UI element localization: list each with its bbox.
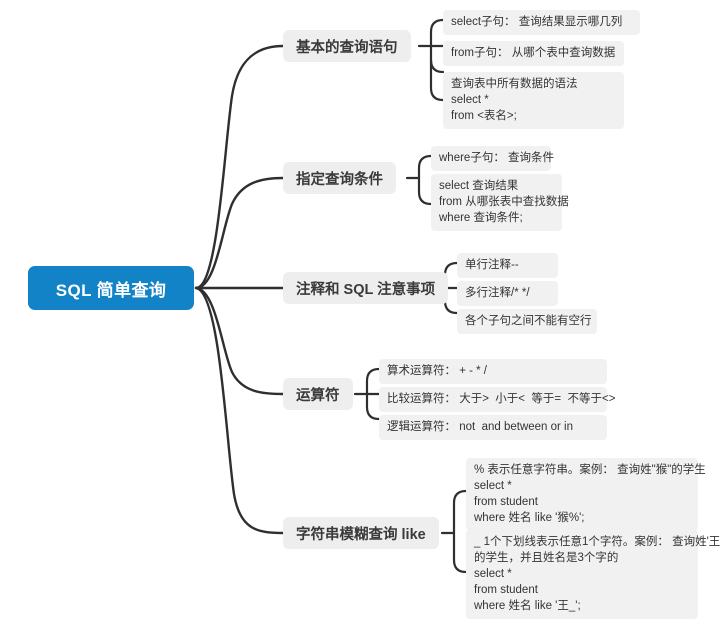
- leaf-node-4-2[interactable]: 比较运算符： 大于> 小于< 等于= 不等于<>: [379, 387, 607, 412]
- leaf-node-4-3[interactable]: 逻辑运算符： not and between or in: [379, 415, 607, 440]
- branch-node-3[interactable]: 注释和 SQL 注意事项: [283, 272, 448, 304]
- branch-node-4-label: 运算符: [296, 384, 340, 405]
- edge-branch-2-bracket: [419, 156, 431, 204]
- edge-root-to-branch-2: [196, 178, 283, 288]
- leaf-node-4-3-label: 逻辑运算符： not and between or in: [387, 419, 599, 435]
- branch-node-5-label: 字符串模糊查询 like: [296, 523, 426, 544]
- leaf-node-1-1-label: select子句： 查询结果显示哪几列: [451, 14, 632, 30]
- leaf-node-3-2-label: 多行注释/* */: [465, 285, 550, 301]
- leaf-node-2-2[interactable]: select 查询结果 from 从哪张表中查找数据 where 查询条件;: [431, 174, 562, 231]
- leaf-node-5-1[interactable]: % 表示任意字符串。案例： 查询姓"猴"的学生 select * from st…: [466, 458, 698, 531]
- root-node-label: SQL 简单查询: [56, 276, 167, 301]
- leaf-node-2-1[interactable]: where子句： 查询条件: [431, 146, 551, 171]
- leaf-node-2-2-label: select 查询结果 from 从哪张表中查找数据 where 查询条件;: [439, 178, 554, 226]
- leaf-node-3-1[interactable]: 单行注释--: [457, 253, 558, 278]
- edge-root-to-branch-1: [196, 46, 283, 288]
- mindmap-canvas: SQL 简单查询 基本的查询语句 select子句： 查询结果显示哪几列 fro…: [0, 0, 720, 625]
- leaf-node-3-3-label: 各个子句之间不能有空行: [465, 313, 589, 329]
- leaf-node-3-3[interactable]: 各个子句之间不能有空行: [457, 309, 597, 334]
- branch-node-2[interactable]: 指定查询条件: [283, 162, 396, 194]
- branch-node-3-label: 注释和 SQL 注意事项: [296, 278, 435, 299]
- edge-root-to-branch-4: [196, 288, 283, 394]
- leaf-node-5-1-label: % 表示任意字符串。案例： 查询姓"猴"的学生 select * from st…: [474, 462, 690, 526]
- leaf-node-1-2-label: from子句： 从哪个表中查询数据: [451, 45, 616, 61]
- leaf-node-5-2[interactable]: _ 1个下划线表示任意1个字符。案例： 查询姓'王' 的学生，并且姓名是3个字的…: [466, 530, 698, 619]
- root-node[interactable]: SQL 简单查询: [28, 266, 194, 310]
- leaf-node-4-2-label: 比较运算符： 大于> 小于< 等于= 不等于<>: [387, 391, 599, 407]
- leaf-node-4-1[interactable]: 算术运算符： + - * /: [379, 359, 607, 384]
- edge-root-to-branch-5: [196, 288, 283, 533]
- leaf-node-4-1-label: 算术运算符： + - * /: [387, 363, 599, 379]
- branch-node-4[interactable]: 运算符: [283, 378, 353, 410]
- branch-node-1-label: 基本的查询语句: [296, 36, 398, 57]
- edge-branch-4-bracket: [367, 369, 379, 419]
- edge-branch-1-bracket-lower: [431, 60, 443, 100]
- branch-node-2-label: 指定查询条件: [296, 168, 383, 189]
- leaf-node-1-3-label: 查询表中所有数据的语法 select * from <表名>;: [451, 76, 616, 124]
- leaf-node-3-2[interactable]: 多行注释/* */: [457, 281, 558, 306]
- edge-branch-1-bracket-upper: [431, 20, 443, 72]
- branch-node-1[interactable]: 基本的查询语句: [283, 30, 411, 62]
- leaf-node-5-2-label: _ 1个下划线表示任意1个字符。案例： 查询姓'王' 的学生，并且姓名是3个字的…: [474, 534, 690, 614]
- edge-branch-5-bracket: [454, 491, 466, 572]
- leaf-node-1-2[interactable]: from子句： 从哪个表中查询数据: [443, 41, 624, 66]
- leaf-node-1-1[interactable]: select子句： 查询结果显示哪几列: [443, 10, 640, 35]
- branch-node-5[interactable]: 字符串模糊查询 like: [283, 517, 439, 549]
- leaf-node-2-1-label: where子句： 查询条件: [439, 150, 543, 166]
- leaf-node-1-3[interactable]: 查询表中所有数据的语法 select * from <表名>;: [443, 72, 624, 129]
- leaf-node-3-1-label: 单行注释--: [465, 257, 550, 273]
